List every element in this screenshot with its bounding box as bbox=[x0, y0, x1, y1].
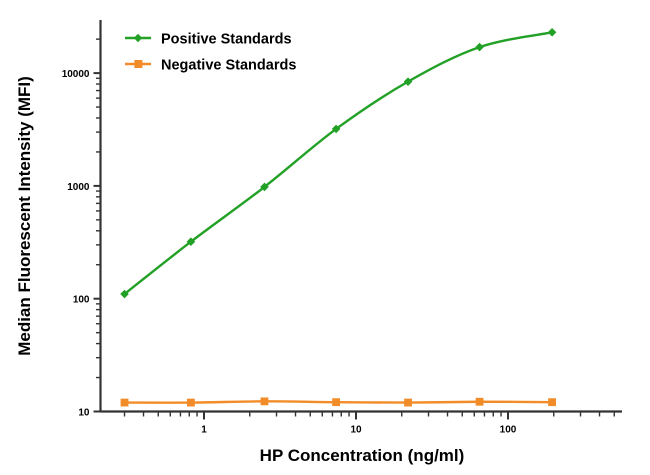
legend-label: Positive Standards bbox=[161, 31, 292, 47]
y-tick-label: 10 bbox=[78, 408, 90, 419]
data-point-marker bbox=[476, 398, 483, 405]
chart-svg: 10100100010000 110100 Positive Standards… bbox=[0, 0, 650, 475]
data-point-marker bbox=[187, 399, 194, 406]
legend-label: Negative Standards bbox=[161, 57, 296, 73]
data-point-marker bbox=[121, 399, 128, 406]
legend-marker bbox=[134, 60, 142, 68]
chart-container: 10100100010000 110100 Positive Standards… bbox=[0, 0, 650, 475]
data-point-marker bbox=[549, 399, 556, 406]
x-tick-label: 10 bbox=[350, 425, 362, 436]
x-axis-title: HP Concentration (ng/ml) bbox=[260, 446, 465, 465]
data-point-marker bbox=[261, 398, 268, 405]
data-point-marker bbox=[333, 399, 340, 406]
y-tick-label: 10000 bbox=[62, 69, 90, 80]
y-tick-label: 1000 bbox=[67, 182, 90, 193]
x-tick-label: 1 bbox=[201, 425, 207, 436]
y-axis-title: Median Fluorescent Intensity (MFI) bbox=[15, 76, 34, 356]
data-point-marker bbox=[405, 399, 412, 406]
x-tick-label: 100 bbox=[500, 425, 517, 436]
y-tick-label: 100 bbox=[73, 295, 90, 306]
